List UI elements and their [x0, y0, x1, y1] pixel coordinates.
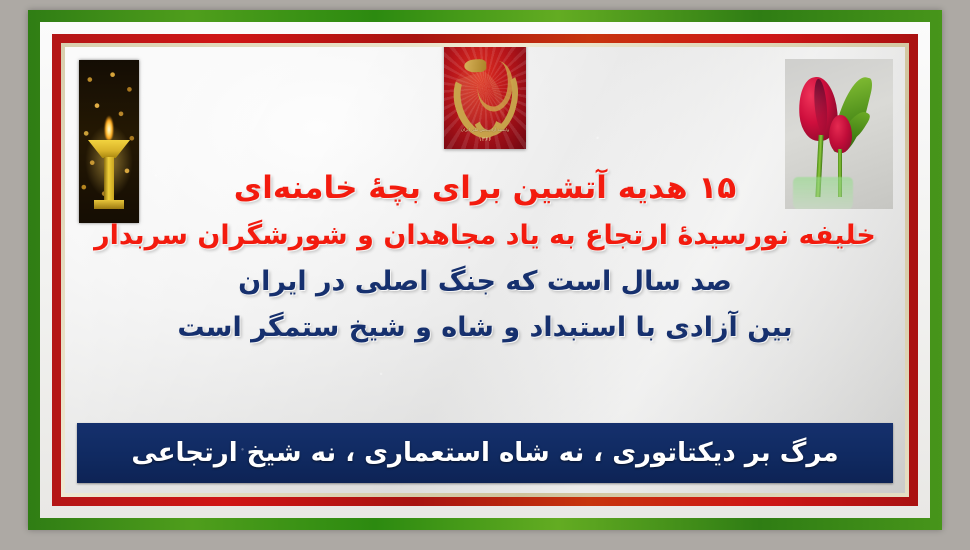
candle-bowl [88, 140, 130, 158]
frame-white-band: وابسته آزادیبخش ملی ایران ۱۳۶۶ ۱۵ هدیه آ… [40, 22, 930, 518]
headline-line-1: ۱۵ هدیه آتشین برای بچهٔ خامنه‌ای [65, 165, 905, 208]
headline-line-4: بین آزادی با استبداد و شاه و شیخ ستمگر ا… [65, 299, 905, 345]
headline-line-3: صد سال است که جنگ اصلی در ایران [65, 253, 905, 299]
emblem-year: ۱۳۶۶ [444, 136, 526, 143]
poster-content-area: وابسته آزادیبخش ملی ایران ۱۳۶۶ ۱۵ هدیه آ… [65, 47, 905, 493]
emblem-caption: وابسته آزادیبخش ملی ایران [444, 127, 526, 133]
slogan-banner-text: مرگ بر دیکتاتوری ، نه شاه استعماری ، نه … [131, 438, 838, 468]
candle-flame-icon [104, 112, 115, 140]
headline-block: ۱۵ هدیه آتشین برای بچهٔ خامنه‌ای خلیفه ن… [65, 165, 905, 345]
frame-red-band: وابسته آزادیبخش ملی ایران ۱۳۶۶ ۱۵ هدیه آ… [52, 34, 918, 506]
organization-emblem: وابسته آزادیبخش ملی ایران ۱۳۶۶ [444, 47, 526, 149]
slogan-banner: مرگ بر دیکتاتوری ، نه شاه استعماری ، نه … [77, 423, 893, 483]
poster-canvas: وابسته آزادیبخش ملی ایران ۱۳۶۶ ۱۵ هدیه آ… [0, 0, 970, 550]
frame-inner-rim: وابسته آزادیبخش ملی ایران ۱۳۶۶ ۱۵ هدیه آ… [61, 43, 909, 497]
headline-line-2: خلیفه نورسیدهٔ ارتجاع به یاد مجاهدان و ش… [65, 208, 905, 253]
frame-green-band: وابسته آزادیبخش ملی ایران ۱۳۶۶ ۱۵ هدیه آ… [28, 10, 942, 530]
tulip-bud-small [829, 115, 852, 153]
